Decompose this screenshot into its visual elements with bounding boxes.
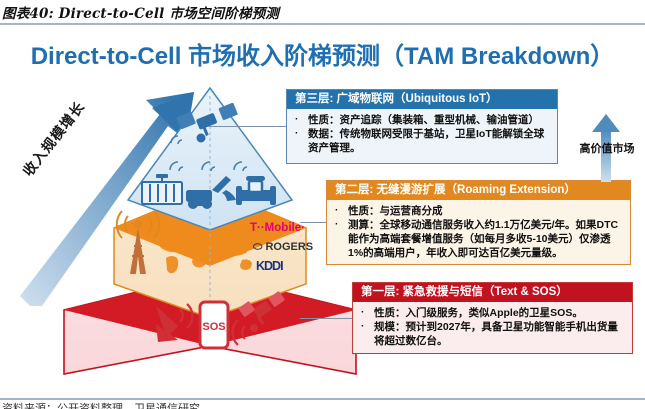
exhibit-header: 图表40: Direct-to-Cell 市场空间阶梯预测	[0, 0, 645, 24]
bullet-dot-icon: ·	[359, 320, 374, 334]
sos-phone-icon: SOS	[200, 302, 228, 348]
connector-layer1	[300, 318, 354, 319]
bullet-text: 测算：全球移动通信服务收入约1.1万亿美元/年。如果DTC能作为高端套餐增值服务…	[348, 218, 624, 260]
bullet-item: · 测算：全球移动通信服务收入约1.1万亿美元/年。如果DTC能作为高端套餐增值…	[333, 218, 624, 260]
info-box-layer3-header: 第三层: 广域物联网（Ubiquitous IoT）	[287, 90, 557, 109]
footer-source-note: 资料来源：公开资料整理，卫星通信研究	[2, 400, 200, 409]
bullet-item: · 数据：传统物联网受限于基站，卫星IoT能解锁全球资产管理。	[293, 127, 551, 155]
info-box-layer1-body: · 性质：入门级服务，类似Apple的卫星SOS。 · 规模：预计到2027年，…	[353, 302, 632, 352]
logo-rogers: ⬭ ROGERS	[252, 241, 313, 253]
exhibit-title: 图表40: Direct-to-Cell 市场空间阶梯预测	[2, 2, 279, 22]
info-box-layer2-body: · 性质：与运营商分成 · 测算：全球移动通信服务收入约1.1万亿美元/年。如果…	[327, 200, 630, 264]
connector-layer2	[300, 222, 328, 223]
logo-kddi: KDDI	[256, 259, 283, 273]
bullet-text: 性质：入门级服务，类似Apple的卫星SOS。	[374, 306, 626, 320]
header-divider	[0, 23, 645, 25]
connector-layer3	[208, 126, 288, 127]
bullet-dot-icon: ·	[333, 218, 348, 232]
info-box-layer1: 第一层: 紧急救援与短信（Text & SOS） · 性质：入门级服务，类似Ap…	[352, 282, 633, 354]
bullet-item: · 规模：预计到2027年，具备卫星功能智能手机出货量将超过数亿台。	[359, 320, 626, 348]
bullet-item: · 性质：入门级服务，类似Apple的卫星SOS。	[359, 306, 626, 320]
info-box-layer1-header: 第一层: 紧急救援与短信（Text & SOS）	[353, 283, 632, 302]
bullet-dot-icon: ·	[293, 113, 308, 127]
bullet-text: 性质：资产追踪（集装箱、重型机械、输油管道）	[308, 113, 551, 127]
high-value-market-label: 高价值市场	[578, 140, 636, 156]
svg-text:SOS: SOS	[202, 321, 225, 333]
bullet-text: 规模：预计到2027年，具备卫星功能智能手机出货量将超过数亿台。	[374, 320, 626, 348]
chart-title: Direct-to-Cell 市场收入阶梯预测（TAM Breakdown）	[0, 36, 645, 71]
bullet-item: · 性质：资产追踪（集装箱、重型机械、输油管道）	[293, 113, 551, 127]
bullet-text: 性质：与运营商分成	[348, 204, 624, 218]
info-box-layer2: 第二层: 无缝漫游扩展（Roaming Extension） · 性质：与运营商…	[326, 180, 631, 265]
bullet-dot-icon: ·	[359, 306, 374, 320]
info-box-layer3: 第三层: 广域物联网（Ubiquitous IoT） · 性质：资产追踪（集装箱…	[286, 89, 558, 164]
bullet-dot-icon: ·	[333, 204, 348, 218]
bullet-text: 数据：传统物联网受限于基站，卫星IoT能解锁全球资产管理。	[308, 127, 551, 155]
info-box-layer3-body: · 性质：资产追踪（集装箱、重型机械、输油管道） · 数据：传统物联网受限于基站…	[287, 109, 557, 159]
logo-tmobile: T··Mobile·	[250, 222, 305, 234]
bullet-dot-icon: ·	[293, 127, 308, 141]
bullet-item: · 性质：与运营商分成	[333, 204, 624, 218]
